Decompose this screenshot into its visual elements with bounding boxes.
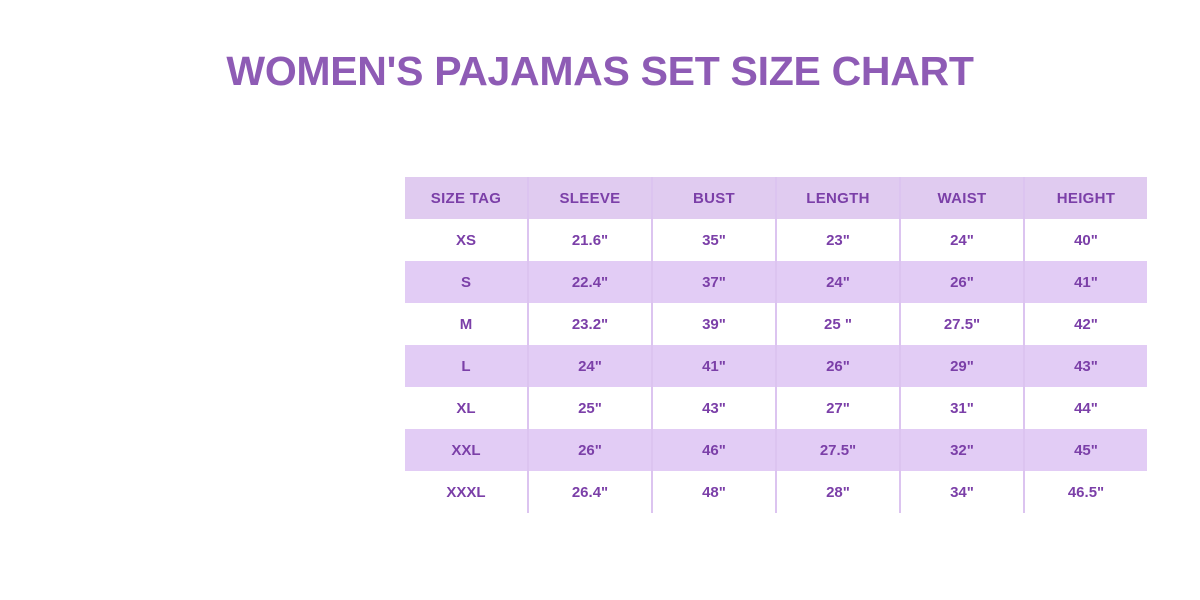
size-chart-table-wrapper: SIZE TAGSLEEVEBUSTLENGTHWAISTHEIGHT XS21… [405,177,1137,513]
column-header-height: HEIGHT [1024,177,1147,219]
measurement-cell: 25" [528,387,652,429]
size-tag-cell: L [405,345,528,387]
table-row: XXXL26.4"48"28"34"46.5" [405,471,1147,513]
measurement-cell: 40" [1024,219,1147,261]
measurement-cell: 41" [1024,261,1147,303]
measurement-cell: 45" [1024,429,1147,471]
measurement-cell: 27" [776,387,900,429]
measurement-cell: 44" [1024,387,1147,429]
table-row: XS21.6"35"23"24"40" [405,219,1147,261]
table-row: M23.2"39"25 "27.5"42" [405,303,1147,345]
measurement-cell: 43" [1024,345,1147,387]
measurement-cell: 29" [900,345,1024,387]
table-header: SIZE TAGSLEEVEBUSTLENGTHWAISTHEIGHT [405,177,1147,219]
measurement-cell: 26" [528,429,652,471]
page-title: WOMEN'S PAJAMAS SET SIZE CHART [0,48,1200,95]
measurement-cell: 26" [776,345,900,387]
measurement-cell: 46.5" [1024,471,1147,513]
measurement-cell: 23.2" [528,303,652,345]
table-row: S22.4"37"24"26"41" [405,261,1147,303]
measurement-cell: 42" [1024,303,1147,345]
measurement-cell: 22.4" [528,261,652,303]
size-chart-page: WOMEN'S PAJAMAS SET SIZE CHART SIZE TAGS… [0,0,1200,600]
table-row: XL25"43"27"31"44" [405,387,1147,429]
measurement-cell: 46" [652,429,776,471]
measurement-cell: 27.5" [776,429,900,471]
measurement-cell: 43" [652,387,776,429]
column-header-size-tag: SIZE TAG [405,177,528,219]
measurement-cell: 34" [900,471,1024,513]
measurement-cell: 48" [652,471,776,513]
size-tag-cell: XXXL [405,471,528,513]
table-header-row: SIZE TAGSLEEVEBUSTLENGTHWAISTHEIGHT [405,177,1147,219]
measurement-cell: 41" [652,345,776,387]
size-tag-cell: S [405,261,528,303]
measurement-cell: 24" [528,345,652,387]
column-header-length: LENGTH [776,177,900,219]
measurement-cell: 25 " [776,303,900,345]
measurement-cell: 24" [776,261,900,303]
column-header-sleeve: SLEEVE [528,177,652,219]
table-body: XS21.6"35"23"24"40"S22.4"37"24"26"41"M23… [405,219,1147,513]
measurement-cell: 27.5" [900,303,1024,345]
measurement-cell: 26" [900,261,1024,303]
measurement-cell: 35" [652,219,776,261]
size-tag-cell: XL [405,387,528,429]
table-row: L24"41"26"29"43" [405,345,1147,387]
size-chart-table: SIZE TAGSLEEVEBUSTLENGTHWAISTHEIGHT XS21… [405,177,1147,513]
measurement-cell: 39" [652,303,776,345]
measurement-cell: 32" [900,429,1024,471]
size-tag-cell: XXL [405,429,528,471]
measurement-cell: 24" [900,219,1024,261]
column-header-waist: WAIST [900,177,1024,219]
measurement-cell: 37" [652,261,776,303]
size-tag-cell: XS [405,219,528,261]
measurement-cell: 26.4" [528,471,652,513]
table-row: XXL26"46"27.5"32"45" [405,429,1147,471]
measurement-cell: 23" [776,219,900,261]
measurement-cell: 28" [776,471,900,513]
measurement-cell: 31" [900,387,1024,429]
column-header-bust: BUST [652,177,776,219]
size-tag-cell: M [405,303,528,345]
measurement-cell: 21.6" [528,219,652,261]
